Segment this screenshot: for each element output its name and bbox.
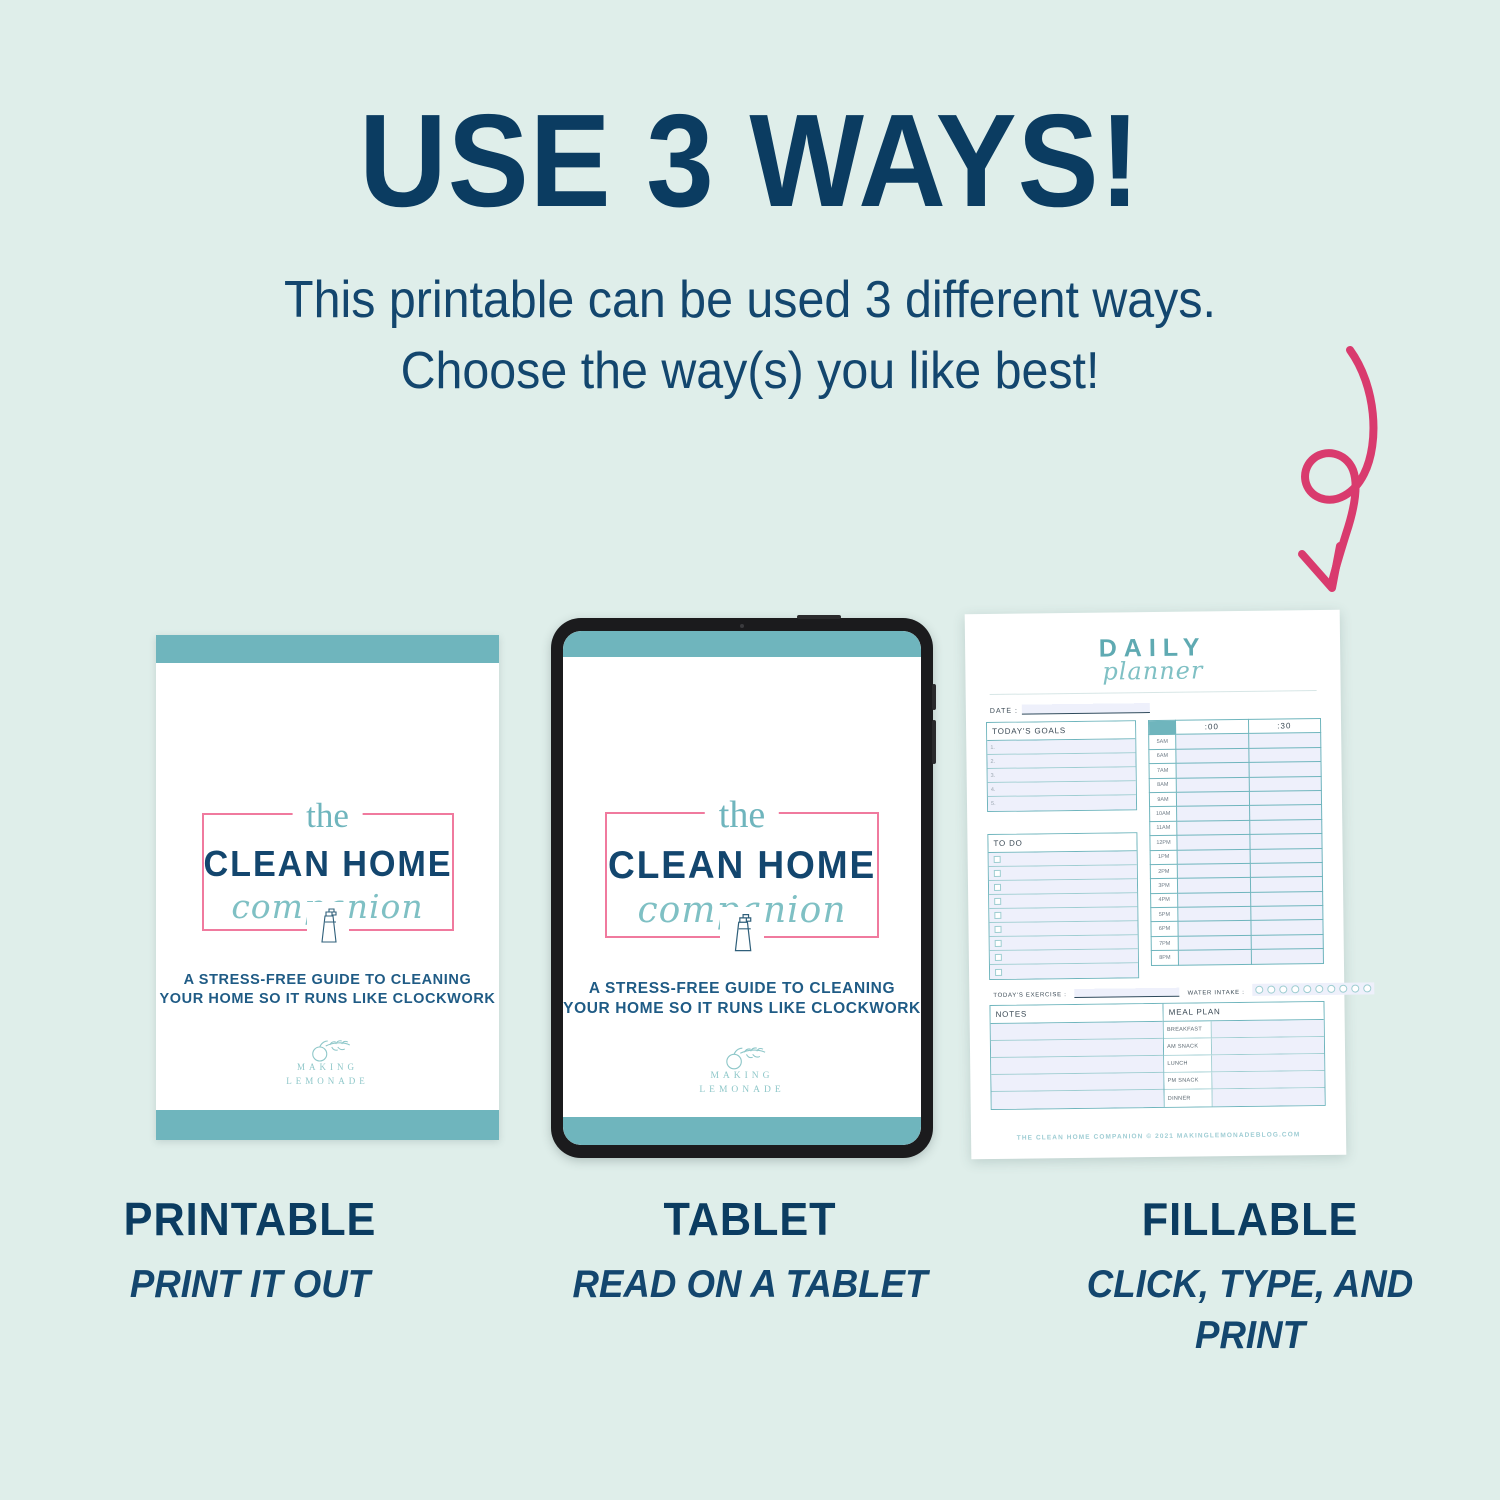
water-drop-icon[interactable] [1363,984,1371,992]
schedule-slot-30[interactable] [1248,747,1321,762]
todo-header: TO DO [988,833,1136,853]
planner-divider [990,690,1317,695]
notes-row[interactable] [991,1039,1163,1058]
schedule-slot-30[interactable] [1250,906,1323,921]
todo-row[interactable] [990,963,1138,979]
brand-line-2: LEMONADE [286,1075,369,1089]
water-drop-icon[interactable] [1255,986,1263,994]
schedule-slot-00[interactable] [1176,748,1249,763]
water-drop-icon[interactable] [1315,985,1323,993]
cover-top-band [563,631,921,657]
schedule-hour-label: 4PM [1151,893,1178,908]
water-drop-icon[interactable] [1267,986,1275,994]
todo-box: TO DO [987,832,1139,980]
notes-meal-section: NOTES MEAL PLAN BREAKFASTAM SNACKLUNCHPM… [989,1001,1325,1110]
cover-artwork-printable: the CLEAN HOME companion A STRESS-FREE G… [156,635,499,1140]
cover-artwork-tablet: the CLEAN HOME companion A STRESS-FREE G… [563,631,921,1145]
cover-word-the: the [705,793,779,837]
printable-preview[interactable]: the CLEAN HOME companion A STRESS-FREE G… [156,635,499,1140]
checkbox-icon[interactable] [994,898,1001,905]
schedule-hour-label: 11AM [1150,821,1177,836]
planner-subtitle: planner [985,655,1320,687]
date-field-row[interactable]: DATE : [986,700,1321,715]
water-drop-icon[interactable] [1351,985,1359,993]
schedule-hour-label: 9AM [1149,792,1176,807]
cover-bottom-band [563,1117,921,1145]
brand-logo: MAKING LEMONADE [699,1046,784,1098]
curved-loop-arrow-icon [1258,338,1408,608]
cover-tagline: A STRESS-FREE GUIDE TO CLEANING YOUR HOM… [563,979,921,1019]
caption-fillable: FILLABLE CLICK, TYPE, AND PRINT [1000,1192,1500,1361]
tablet-power-button[interactable] [797,615,841,619]
meal-label: PM SNACK [1164,1072,1212,1089]
schedule-slot-30[interactable] [1250,920,1323,935]
checkbox-icon[interactable] [994,870,1001,877]
schedule-row: 8PM [1151,949,1323,965]
schedule-slot-00[interactable] [1177,878,1250,893]
schedule-slot-00[interactable] [1177,863,1250,878]
tablet-volume-up-button[interactable] [932,684,936,710]
cover-bottom-band [156,1110,499,1140]
cover-logo-box: the CLEAN HOME companion [605,812,879,938]
schedule-slot-30[interactable] [1249,805,1322,820]
header-subtitle-line-1: This printable can be used 3 different w… [53,265,1448,337]
schedule-slot-00[interactable] [1178,892,1251,907]
meal-row: AM SNACK [1164,1037,1324,1056]
meal-input[interactable] [1212,1020,1324,1037]
water-drop-icon[interactable] [1303,985,1311,993]
schedule-slot-30[interactable] [1250,862,1323,877]
checkbox-icon[interactable] [995,954,1002,961]
schedule-slot-30[interactable] [1251,934,1324,949]
meal-row: PM SNACK [1164,1071,1324,1090]
schedule-slot-00[interactable] [1176,734,1249,749]
water-drop-icon[interactable] [1291,985,1299,993]
cover-tagline-line-2: YOUR HOME SO IT RUNS LIKE CLOCKWORK [160,990,496,1009]
meal-input[interactable] [1212,1037,1324,1054]
checkbox-icon[interactable] [994,856,1001,863]
schedule-slot-00[interactable] [1178,906,1251,921]
cover-top-band [156,635,499,663]
goal-number: 1. [987,744,998,750]
header-subtitle: This printable can be used 3 different w… [53,265,1448,409]
meal-label: LUNCH [1164,1055,1212,1072]
schedule-table: :00 :30 5AM6AM7AM8AM9AM10AM11AM12PM1PM2P… [1148,718,1324,966]
goals-row-list: 1.2.3.4.5. [987,739,1136,811]
todo-row-list [989,851,1139,979]
schedule-hour-label: 5AM [1149,735,1176,750]
checkbox-icon[interactable] [994,912,1001,919]
schedule-hour-label: 7AM [1149,763,1176,778]
spray-bottle-icon [307,902,349,951]
header-subtitle-line-2: Choose the way(s) you like best! [53,336,1448,408]
schedule-slot-00[interactable] [1176,791,1249,806]
cover-title: CLEAN HOME [203,843,452,885]
spray-bottle-icon [720,907,764,960]
daily-planner-page: DAILY planner DATE : TODAY'S GOALS 1.2.3… [965,610,1347,1160]
meal-row: LUNCH [1164,1054,1324,1073]
meal-plan-header: MEAL PLAN [1164,1002,1324,1022]
schedule-hour-label: 5PM [1151,907,1178,922]
cover-body: the CLEAN HOME companion A STRESS-FREE G… [563,657,921,1117]
cover-title: CLEAN HOME [608,844,876,888]
schedule-slot-30[interactable] [1249,762,1322,777]
schedule-hour-label: 6AM [1149,749,1176,764]
notes-row[interactable] [991,1056,1163,1075]
notes-row[interactable] [991,1073,1163,1092]
schedule-slot-30[interactable] [1250,891,1323,906]
goal-number: 3. [988,772,999,778]
caption-title: PRINTABLE [41,1192,458,1246]
schedule-hour-label: 2PM [1150,864,1177,879]
schedule-slot-00[interactable] [1176,763,1249,778]
schedule-slot-00[interactable] [1178,935,1251,950]
schedule-slot-30[interactable] [1250,848,1323,863]
cover-tagline-line-2: YOUR HOME SO IT RUNS LIKE CLOCKWORK [563,999,921,1019]
caption-printable: PRINTABLE PRINT IT OUT [0,1192,500,1361]
checkbox-icon[interactable] [995,940,1002,947]
notes-row-list [991,1022,1164,1109]
caption-title: FILLABLE [1041,1192,1458,1246]
schedule-hour-label: 7PM [1151,936,1178,951]
meal-label: AM SNACK [1164,1038,1212,1055]
schedule-col-30: :30 [1248,718,1321,733]
schedule-slot-00[interactable] [1177,820,1250,835]
exercise-label: TODAY'S EXERCISE : [993,992,1066,999]
water-drop-icon[interactable] [1279,985,1287,993]
cover-tagline-line-1: A STRESS-FREE GUIDE TO CLEANING [160,971,496,990]
schedule-slot-00[interactable] [1176,777,1249,792]
meal-row: DINNER [1165,1088,1325,1107]
brand-line-2: LEMONADE [699,1083,784,1097]
schedule-slot-00[interactable] [1177,834,1250,849]
exercise-input[interactable] [1074,987,1179,998]
tablet-volume-down-button[interactable] [932,720,936,764]
cover-logo-box: the CLEAN HOME companion [202,813,454,931]
tablet-preview[interactable]: the CLEAN HOME companion A STRESS-FREE G… [551,618,933,1158]
schedule-slot-30[interactable] [1249,819,1322,834]
caption-subtitle: READ ON A TABLET [541,1260,958,1311]
caption-subtitle: CLICK, TYPE, AND PRINT [1041,1260,1458,1361]
schedule-hour-label: 12PM [1150,835,1177,850]
notes-box: NOTES [990,1004,1164,1109]
checkbox-icon[interactable] [994,926,1001,933]
tablet-camera-icon [740,624,744,628]
goal-number: 4. [988,786,999,792]
meal-input[interactable] [1212,1071,1324,1088]
schedule-hour-label: 3PM [1150,879,1177,894]
schedule-slot-30[interactable] [1251,949,1324,964]
goal-number: 2. [987,758,998,764]
water-intake-label: WATER INTAKE : [1188,990,1245,997]
notes-header: NOTES [990,1004,1162,1024]
schedule-hour-label: 6PM [1151,922,1178,937]
schedule-hour-label: 8AM [1149,778,1176,793]
water-drop-icon[interactable] [1327,985,1335,993]
schedule-slot-00[interactable] [1178,921,1251,936]
water-drop-icon[interactable] [1339,985,1347,993]
meal-row: BREAKFAST [1164,1020,1324,1039]
todays-goals-header: TODAY'S GOALS [987,721,1135,741]
cover-tagline-line-1: A STRESS-FREE GUIDE TO CLEANING [563,979,921,999]
page-title: USE 3 WAYS! [60,92,1440,231]
schedule-slot-00[interactable] [1178,950,1251,965]
schedule-slot-00[interactable] [1177,806,1250,821]
schedule-col-00: :00 [1175,719,1248,734]
product-previews: the CLEAN HOME companion A STRESS-FREE G… [0,610,1500,1170]
meal-row-list: BREAKFASTAM SNACKLUNCHPM SNACKDINNER [1164,1020,1325,1107]
schedule-hour-label: 10AM [1150,807,1177,822]
date-input[interactable] [1022,702,1150,715]
planner-footer: THE CLEAN HOME COMPANION © 2021 MAKINGLE… [971,1131,1346,1143]
checkbox-icon[interactable] [995,968,1002,975]
cover-tagline: A STRESS-FREE GUIDE TO CLEANING YOUR HOM… [160,971,496,1008]
caption-title: TABLET [541,1192,958,1246]
notes-row[interactable] [991,1022,1163,1041]
caption-row: PRINTABLE PRINT IT OUT TABLET READ ON A … [0,1192,1500,1361]
brand-logo: MAKING LEMONADE [286,1039,369,1088]
exercise-water-row: TODAY'S EXERCISE : WATER INTAKE : [989,983,1324,999]
meal-label: BREAKFAST [1164,1021,1212,1038]
meal-label: DINNER [1165,1089,1213,1107]
date-label: DATE : [990,708,1018,715]
notes-row[interactable] [992,1090,1164,1109]
cover-word-the: the [292,796,363,836]
goal-row[interactable]: 5. [988,795,1136,811]
meal-plan-box: MEAL PLAN BREAKFASTAM SNACKLUNCHPM SNACK… [1164,1002,1325,1107]
goal-number: 5. [988,801,999,807]
water-intake-tracker[interactable] [1252,982,1374,995]
schedule-slot-30[interactable] [1248,733,1321,748]
schedule-slot-00[interactable] [1177,849,1250,864]
schedule-corner-cell [1148,720,1175,735]
brand-line-1: MAKING [286,1061,369,1075]
caption-subtitle: PRINT IT OUT [41,1260,458,1311]
meal-input[interactable] [1212,1054,1324,1071]
fillable-preview[interactable]: DAILY planner DATE : TODAY'S GOALS 1.2.3… [968,612,1343,1157]
brand-line-1: MAKING [699,1069,784,1083]
todays-goals-box: TODAY'S GOALS 1.2.3.4.5. [986,720,1137,812]
schedule-hour-label: 1PM [1150,850,1177,865]
schedule-slot-30[interactable] [1249,834,1322,849]
tablet-frame: the CLEAN HOME companion A STRESS-FREE G… [551,618,933,1158]
cover-body: the CLEAN HOME companion A STRESS-FREE G… [156,663,499,1110]
schedule-slot-30[interactable] [1249,776,1322,791]
caption-tablet: TABLET READ ON A TABLET [500,1192,1000,1361]
schedule-slot-30[interactable] [1250,877,1323,892]
checkbox-icon[interactable] [994,884,1001,891]
meal-input[interactable] [1213,1088,1325,1106]
schedule-hour-label: 8PM [1151,950,1178,965]
schedule-slot-30[interactable] [1249,790,1322,805]
